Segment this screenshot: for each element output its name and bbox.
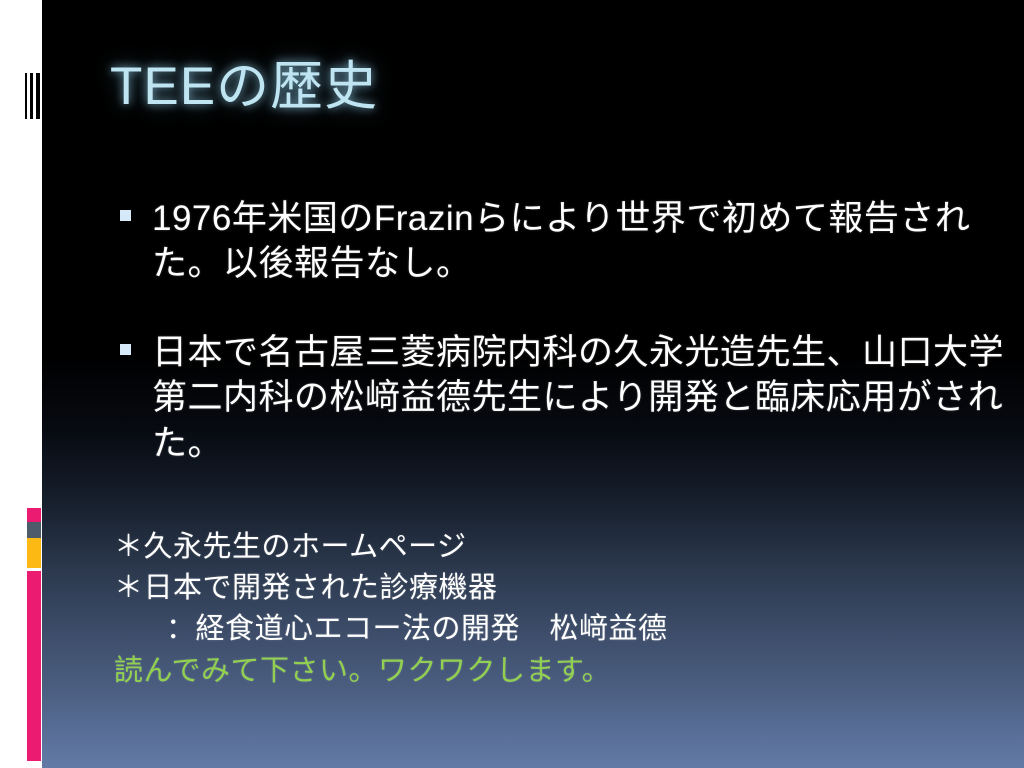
stripe-bar (36, 73, 40, 119)
note-line: ：経食道心エコー法の開発 松﨑益德 (114, 609, 1014, 650)
title-stripe-decoration (25, 73, 42, 119)
square-bullet-icon (120, 344, 131, 355)
accent-segment-magenta (27, 508, 41, 522)
accent-segment-amber (27, 538, 41, 568)
list-item: 1976年米国のFrazinらにより世界で初めて報告された。以後報告なし。 (120, 196, 1015, 286)
page-title: TEEの歴史 (110, 58, 378, 115)
note-list: ＊久永先生のホームページ ＊日本で開発された診療機器 ：経食道心エコー法の開発 … (114, 527, 1014, 692)
accent-segment-slate (27, 522, 41, 538)
list-item-text: 日本で名古屋三菱病院内科の久永光造先生、山口大学第二内科の松﨑益德先生により開発… (152, 330, 1015, 465)
slide-canvas: TEEの歴史 1976年米国のFrazinらにより世界で初めて報告された。以後報… (42, 0, 1024, 768)
slide-root: TEEの歴史 1976年米国のFrazinらにより世界で初めて報告された。以後報… (0, 0, 1024, 768)
stripe-bar (30, 73, 33, 119)
list-item: 日本で名古屋三菱病院内科の久永光造先生、山口大学第二内科の松﨑益德先生により開発… (120, 330, 1015, 465)
accent-segment-magenta-long (27, 571, 41, 761)
note-line-highlight: 読んでみて下さい。ワクワクします。 (114, 651, 1014, 692)
note-line: ＊日本で開発された診療機器 (114, 568, 1014, 609)
note-line: ＊久永先生のホームページ (114, 527, 1014, 568)
square-bullet-icon (120, 210, 131, 221)
accent-color-bar (27, 508, 41, 761)
bullet-list: 1976年米国のFrazinらにより世界で初めて報告された。以後報告なし。 日本… (120, 196, 1015, 510)
list-item-text: 1976年米国のFrazinらにより世界で初めて報告された。以後報告なし。 (152, 196, 1015, 286)
stripe-bar (25, 73, 27, 119)
